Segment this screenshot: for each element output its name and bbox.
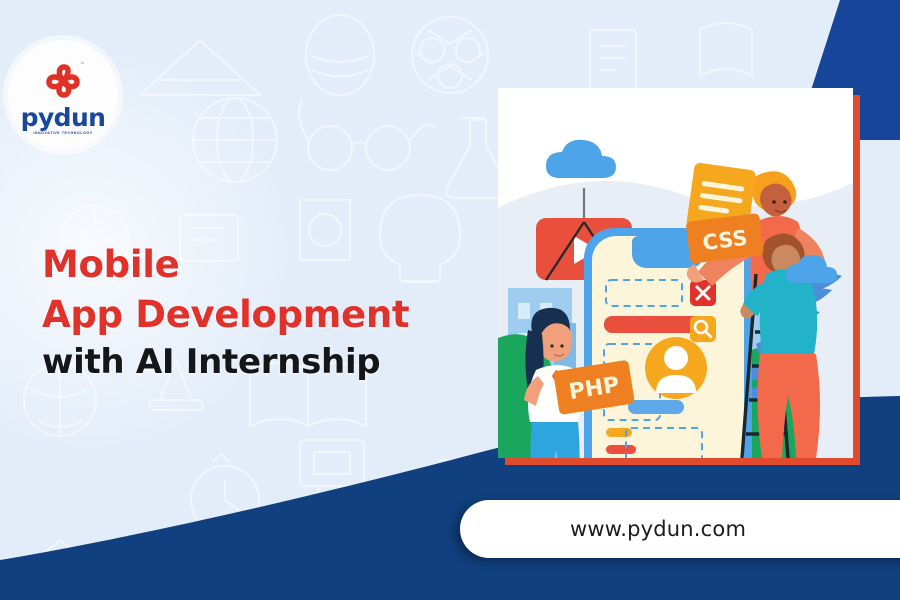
pydun-knot-logo-icon: ™	[38, 56, 88, 106]
headline-line-1: Mobile	[42, 243, 472, 287]
search-icon	[690, 316, 716, 342]
headline-line-3: with AI Internship	[42, 342, 472, 382]
logo-wordmark: pydun	[21, 105, 106, 130]
headline-block: Mobile App Development with AI Internshi…	[42, 243, 472, 382]
app-development-illustration: PHP	[498, 88, 853, 458]
user-avatar-icon	[645, 337, 707, 399]
headline-line-2: App Development	[42, 293, 472, 337]
logo-tagline: INNOVATIVE TECHNOLOGY	[33, 131, 92, 135]
website-url: www.pydun.com	[570, 517, 746, 541]
svg-text:™: ™	[80, 62, 85, 68]
css-tag-card: CSS	[686, 213, 765, 264]
logo-badge: ™ pydun INNOVATIVE TECHNOLOGY	[8, 40, 118, 150]
banner-canvas: ™ pydun INNOVATIVE TECHNOLOGY Mobile App…	[0, 0, 900, 600]
website-pill[interactable]: www.pydun.com	[460, 500, 900, 558]
illustration-card: PHP	[498, 88, 853, 458]
